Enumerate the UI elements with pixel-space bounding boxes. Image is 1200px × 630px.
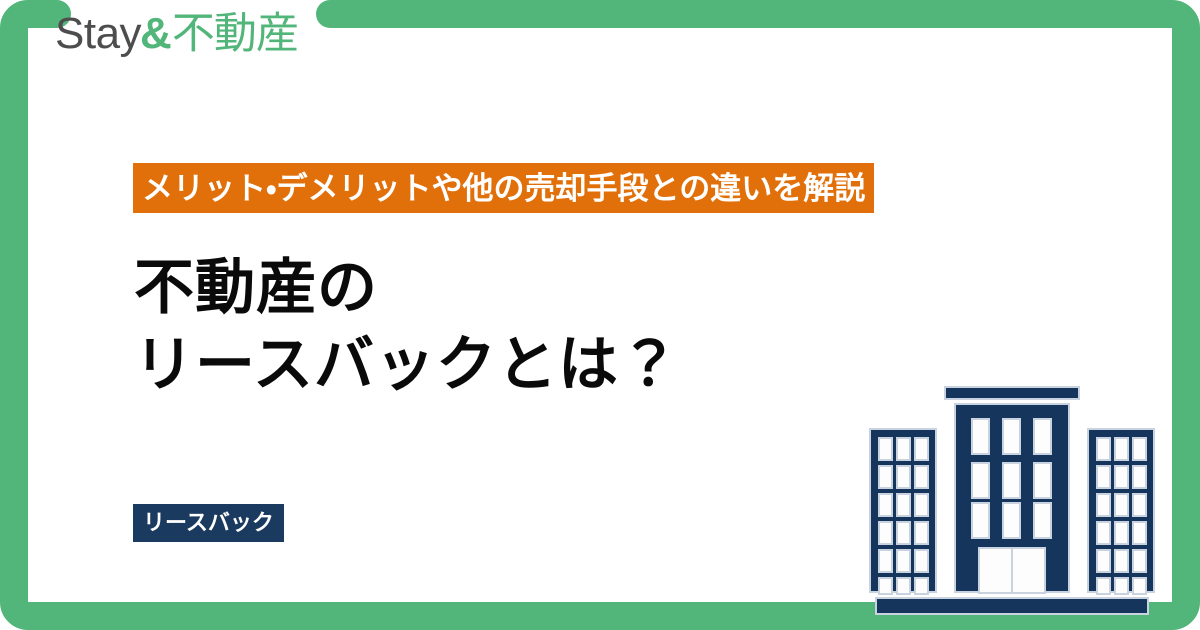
category-badge-label: リースバック xyxy=(143,512,274,534)
og-image-canvas: Stay&不動産 メリット・デメリットや他の売却手段との違いを解説 不動産の リ… xyxy=(0,0,1200,630)
office-buildings-icon xyxy=(862,372,1162,620)
site-logo[interactable]: Stay&不動産 xyxy=(55,8,298,60)
page-title-line-2: リースバックとは？ xyxy=(134,327,894,404)
page-title: 不動産の リースバックとは？ xyxy=(134,250,894,404)
logo-text-japanese: 不動産 xyxy=(172,13,298,56)
category-badge[interactable]: リースバック xyxy=(133,504,284,542)
logo-text-ampersand: & xyxy=(140,12,172,56)
eyebrow-banner: メリット・デメリットや他の売却手段との違いを解説 xyxy=(133,163,874,213)
logo-text-stay: Stay xyxy=(55,12,141,56)
eyebrow-text: メリット・デメリットや他の売却手段との違いを解説 xyxy=(142,173,865,204)
page-title-line-1: 不動産の xyxy=(134,250,894,327)
